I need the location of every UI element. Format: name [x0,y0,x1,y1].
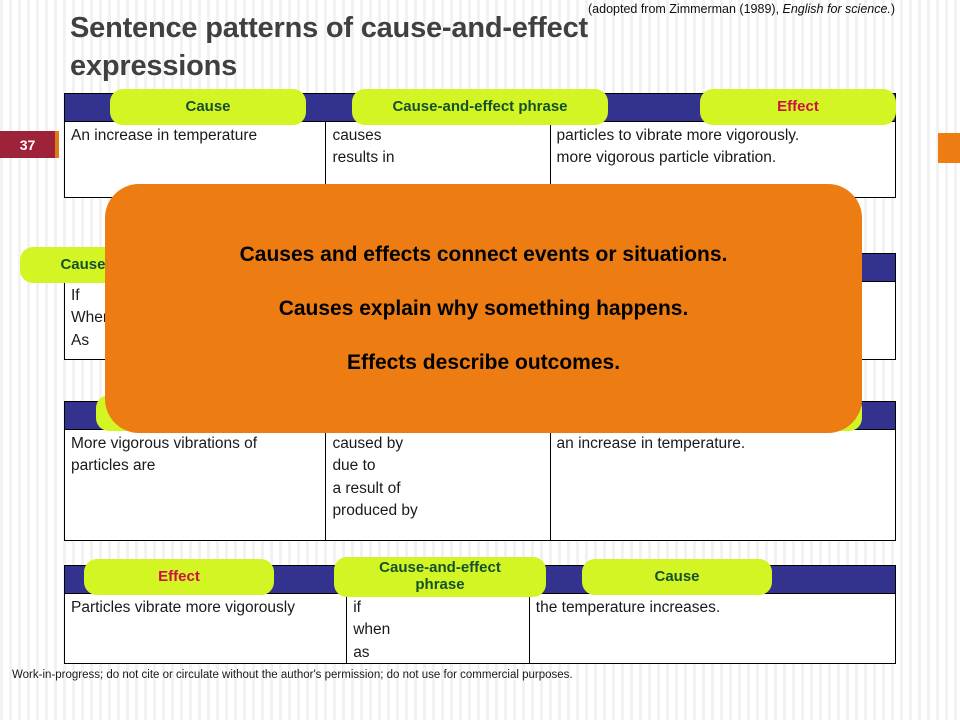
left-accent-bar [55,131,59,158]
footer-disclaimer: Work-in-progress; do not cite or circula… [12,669,942,681]
table-4-cell-cause: the temperature increases. [530,594,895,664]
table-1-pill-cause[interactable]: Cause [110,89,306,125]
callout-line-1: Causes and effects connect events or sit… [240,243,728,267]
page-number-badge: 37 [0,131,55,158]
table-row: Particles vibrate more vigorously if whe… [65,594,895,664]
credit-italic-title: English for science. [783,2,891,16]
table-4-cell-effect: Particles vibrate more vigorously [65,594,347,664]
right-accent-bar [938,133,960,163]
table-4-pill-cause[interactable]: Cause [582,559,772,595]
callout-overlay[interactable]: Causes and effects connect events or sit… [105,184,862,433]
table-4-pill-effect[interactable]: Effect [84,559,274,595]
page-title: Sentence patterns of cause-and-effect ex… [70,10,710,85]
table-row: More vigorous vibrations of particles ar… [65,430,895,541]
table-3-cell-phrase: caused by due to a result of produced by [326,430,550,541]
table-4-cell-phrase: if when as [347,594,530,664]
credit-suffix: ) [891,2,895,16]
table-1-pill-phrase[interactable]: Cause-and-effect phrase [352,89,608,125]
table-1-pill-effect[interactable]: Effect [700,89,896,125]
table-3-cell-effect: More vigorous vibrations of particles ar… [65,430,326,541]
table-4-pill-phrase[interactable]: Cause-and-effect phrase [334,557,546,597]
callout-line-3: Effects describe outcomes. [347,351,620,375]
slide-canvas: (adopted from Zimmerman (1989), English … [0,0,960,720]
table-3-cell-cause: an increase in temperature. [551,430,895,541]
callout-line-2: Causes explain why something happens. [279,297,689,321]
